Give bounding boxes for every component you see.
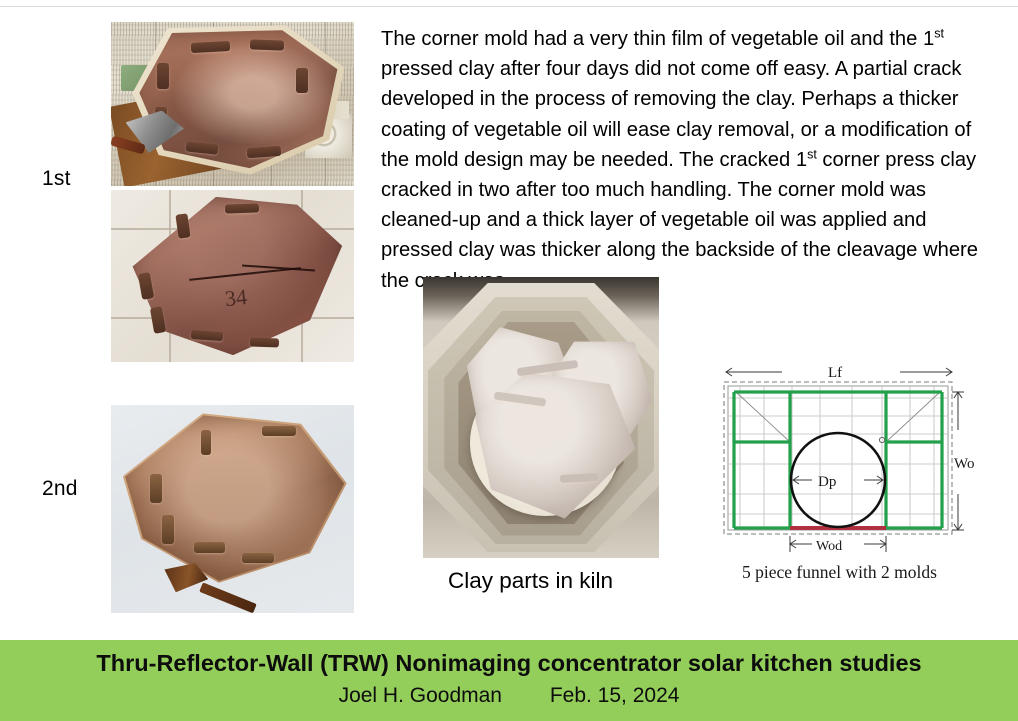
photo-cracked-1st-clay: 34 bbox=[111, 190, 354, 362]
funnel-label-wo: Wo bbox=[954, 456, 974, 472]
funnel-diagram: Lf bbox=[712, 360, 974, 560]
banner-date: Feb. 15, 2024 bbox=[550, 684, 680, 707]
mold-rib-impression bbox=[157, 63, 169, 89]
banner-title: Thru-Reflector-Wall (TRW) Nonimaging con… bbox=[0, 650, 1018, 677]
slide-canvas: 1st 2nd The corner mold had a very thin … bbox=[0, 0, 1018, 721]
mold-rib bbox=[150, 474, 162, 503]
mold-rib-impression bbox=[296, 68, 308, 93]
footer-banner: Thru-Reflector-Wall (TRW) Nonimaging con… bbox=[0, 640, 1018, 721]
funnel-label-dp: Dp bbox=[818, 474, 836, 490]
mold-rib-impression bbox=[247, 145, 282, 157]
row-label-2nd: 2nd bbox=[42, 477, 78, 501]
top-divider-rule bbox=[0, 6, 1018, 7]
mold-rib-impression bbox=[249, 337, 278, 347]
mold-rib-impression bbox=[191, 41, 230, 53]
photo-kiln bbox=[423, 277, 659, 558]
kiln-caption: Clay parts in kiln bbox=[448, 568, 613, 594]
clay-marking: 34 bbox=[224, 284, 249, 312]
mold-rib bbox=[194, 542, 226, 552]
mold-rib bbox=[242, 553, 274, 563]
row-label-1st: 1st bbox=[42, 167, 71, 191]
mold-rib bbox=[162, 515, 174, 544]
photo-mold-1st-press bbox=[111, 22, 354, 186]
photo-mold-2nd bbox=[111, 405, 354, 613]
ordinal-suffix: st bbox=[807, 147, 817, 161]
mold-rib-impression bbox=[225, 203, 259, 213]
mold-rib bbox=[201, 430, 211, 455]
ordinal-suffix: st bbox=[934, 26, 944, 40]
funnel-caption: 5 piece funnel with 2 molds bbox=[742, 562, 937, 583]
banner-author-row: Joel H. Goodman Feb. 15, 2024 bbox=[0, 684, 1018, 708]
funnel-label-wod: Wod bbox=[816, 539, 842, 554]
funnel-label-lf: Lf bbox=[828, 365, 842, 381]
mold-rib bbox=[262, 426, 296, 436]
banner-author: Joel H. Goodman bbox=[339, 684, 502, 707]
mold-rib-impression bbox=[249, 39, 283, 50]
body-paragraph: The corner mold had a very thin film of … bbox=[381, 24, 985, 296]
